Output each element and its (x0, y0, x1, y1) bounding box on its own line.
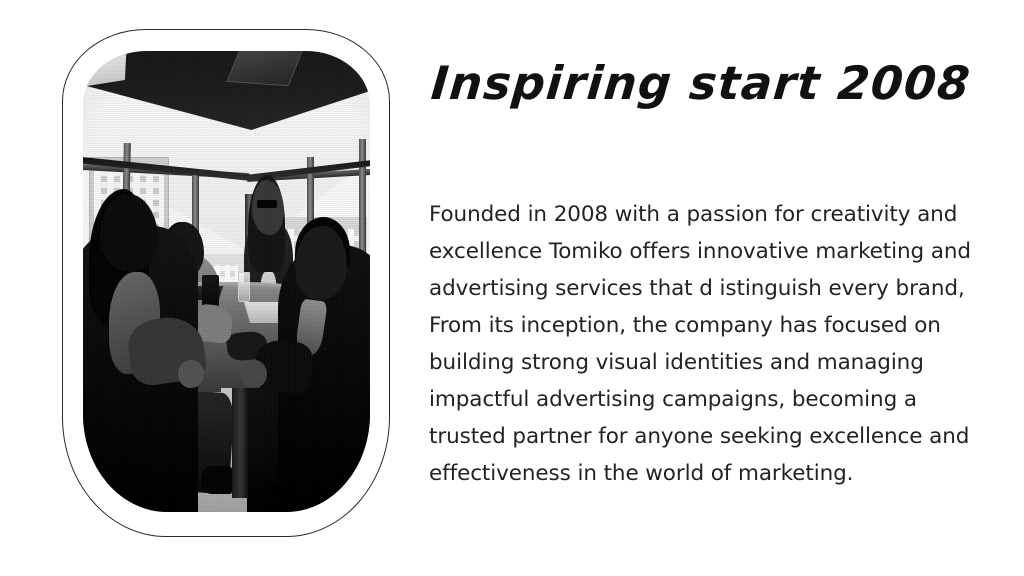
water-glass (238, 272, 250, 302)
photo-frame (62, 29, 390, 537)
shoe-heel (201, 466, 233, 494)
meeting-photo (83, 51, 370, 512)
body-paragraph: Founded in 2008 with a passion for creat… (429, 196, 994, 492)
attendee-4-hand (241, 360, 267, 388)
eyeglasses-icon (257, 200, 277, 207)
body-paragraph-text: Founded in 2008 with a passion for creat… (429, 196, 994, 492)
photo-scene (83, 51, 370, 512)
attendee-4-head (295, 226, 347, 300)
attendee-1-hand (178, 360, 204, 388)
text-column: Inspiring start 2008 Founded in 2008 wit… (429, 56, 994, 492)
slide-canvas: Inspiring start 2008 Founded in 2008 wit… (0, 0, 1024, 576)
page-title: Inspiring start 2008 (429, 56, 999, 110)
table-pedestal (232, 369, 248, 498)
